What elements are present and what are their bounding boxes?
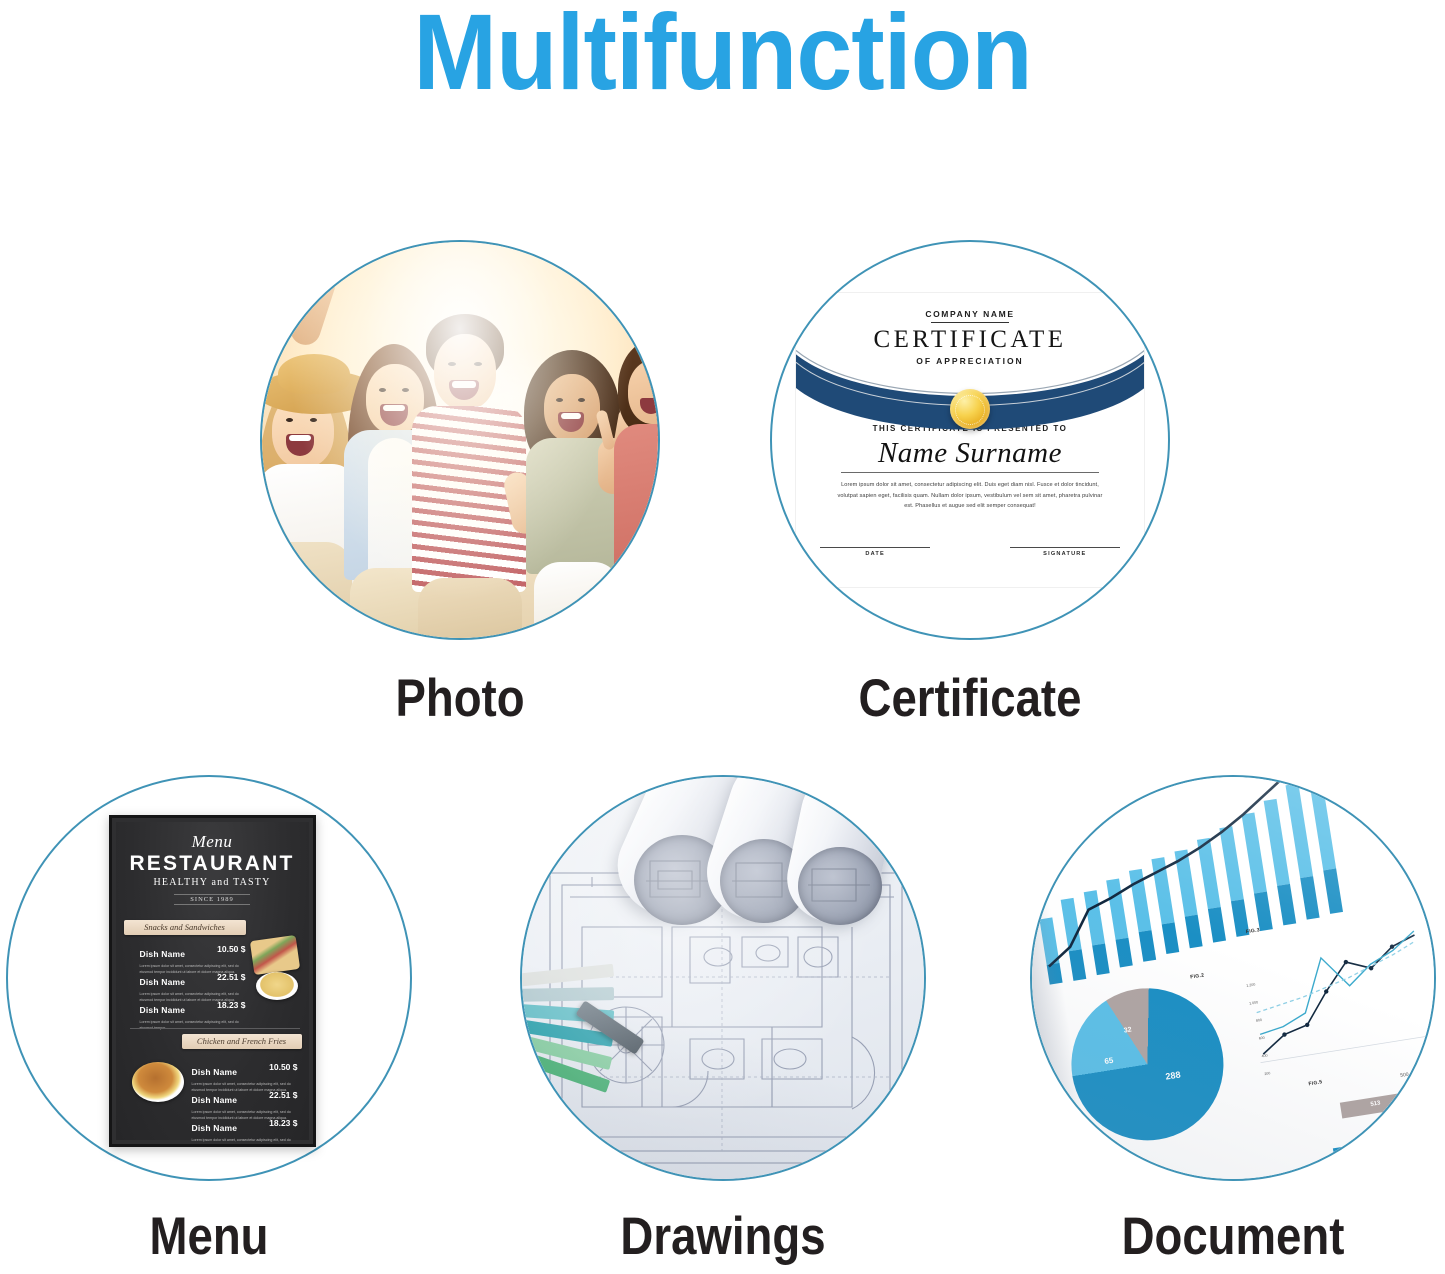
marketing-banner: Multifunction — [0, 0, 1445, 1274]
menu-item-price: 10.50 $ — [269, 1062, 297, 1072]
certificate-date-field: DATE — [820, 547, 930, 557]
menu-section-title: Chicken and French Fries — [182, 1034, 302, 1049]
feature-thumbnail-document: FIG.2 288 65 32 FIG.4 — [1030, 775, 1436, 1181]
certificate-signature-field: SIGNATURE — [1010, 547, 1120, 557]
drawings-vignette — [522, 777, 924, 1179]
photo-haze — [262, 242, 658, 638]
menu-divider — [130, 1144, 300, 1145]
menu-item-name: Dish Name — [192, 1067, 238, 1077]
caption-photo: Photo — [288, 668, 632, 729]
menu-item: Dish Name 10.50 $ Lorem ipsum dolor sit … — [140, 944, 246, 975]
menu-item-desc: Lorem ipsum dolor sit amet, consectetur … — [140, 1020, 246, 1031]
menu-item-price: 18.23 $ — [217, 1000, 245, 1010]
chicken-plate-illustration — [132, 1062, 184, 1102]
menu-item: Dish Name 18.23 $ Lorem ipsum dolor sit … — [192, 1118, 298, 1147]
caption-menu: Menu — [34, 1206, 383, 1267]
menu-section-title: Snacks and Sandwiches — [124, 920, 246, 935]
menu-item-desc: Lorem ipsum dolor sit amet, consectetur … — [192, 1138, 298, 1147]
menu-item-name: Dish Name — [192, 1095, 238, 1105]
certificate-signature-label: SIGNATURE — [1010, 551, 1120, 557]
menu-poster: Menu RESTAURANT HEALTHY and TASTY SINCE … — [109, 815, 316, 1147]
menu-item: Dish Name 22.51 $ Lorem ipsum dolor sit … — [140, 972, 246, 1003]
menu-item: Dish Name 18.23 $ Lorem ipsum dolor sit … — [140, 1000, 246, 1031]
caption-document: Document — [1058, 1206, 1407, 1267]
feature-thumbnail-menu: Menu RESTAURANT HEALTHY and TASTY SINCE … — [6, 775, 412, 1181]
menu-item-price: 22.51 $ — [217, 972, 245, 982]
menu-since: SINCE 1989 — [174, 894, 249, 905]
certificate-image: COMPANY NAME CERTIFICATE OF APPRECIATION… — [772, 242, 1168, 638]
menu-divider — [130, 1028, 300, 1029]
fries-plate-illustration — [256, 972, 298, 1000]
gold-seal-inner-ring — [955, 395, 985, 425]
certificate-ribbon — [796, 293, 1144, 586]
menu-header: Menu RESTAURANT HEALTHY and TASTY SINCE … — [116, 832, 309, 906]
menu-eyebrow: Menu — [116, 832, 309, 852]
feature-thumbnail-drawings — [520, 775, 926, 1181]
certificate-signature-row: DATE SIGNATURE — [820, 547, 1120, 557]
menu-title: RESTAURANT — [116, 852, 309, 876]
menu-item-name: Dish Name — [140, 1005, 186, 1015]
photo-image — [262, 242, 658, 638]
menu-chalkboard: Menu RESTAURANT HEALTHY and TASTY SINCE … — [116, 822, 309, 1140]
caption-drawings: Drawings — [548, 1206, 897, 1267]
certificate-date-label: DATE — [820, 551, 930, 557]
menu-item-name: Dish Name — [192, 1123, 238, 1133]
menu-item: Dish Name 22.51 $ Lorem ipsum dolor sit … — [192, 1090, 298, 1121]
menu-item-price: 22.51 $ — [269, 1090, 297, 1100]
caption-certificate: Certificate — [798, 668, 1142, 729]
feature-thumbnail-certificate: COMPANY NAME CERTIFICATE OF APPRECIATION… — [770, 240, 1170, 640]
page-title: Multifunction — [51, 0, 1395, 111]
certificate-sheet: COMPANY NAME CERTIFICATE OF APPRECIATION… — [796, 293, 1144, 586]
sandwich-illustration — [249, 935, 299, 975]
menu-item: Dish Name 10.50 $ Lorem ipsum dolor sit … — [192, 1062, 298, 1093]
document-sheen — [1032, 777, 1434, 1179]
menu-tagline: HEALTHY and TASTY — [116, 877, 309, 888]
document-image: FIG.2 288 65 32 FIG.4 — [1032, 777, 1434, 1179]
drawings-image — [522, 777, 924, 1179]
menu-item-price: 10.50 $ — [217, 944, 245, 954]
menu-item-name: Dish Name — [140, 949, 186, 959]
menu-item-price: 18.23 $ — [269, 1118, 297, 1128]
feature-thumbnail-photo — [260, 240, 660, 640]
menu-item-name: Dish Name — [140, 977, 186, 987]
